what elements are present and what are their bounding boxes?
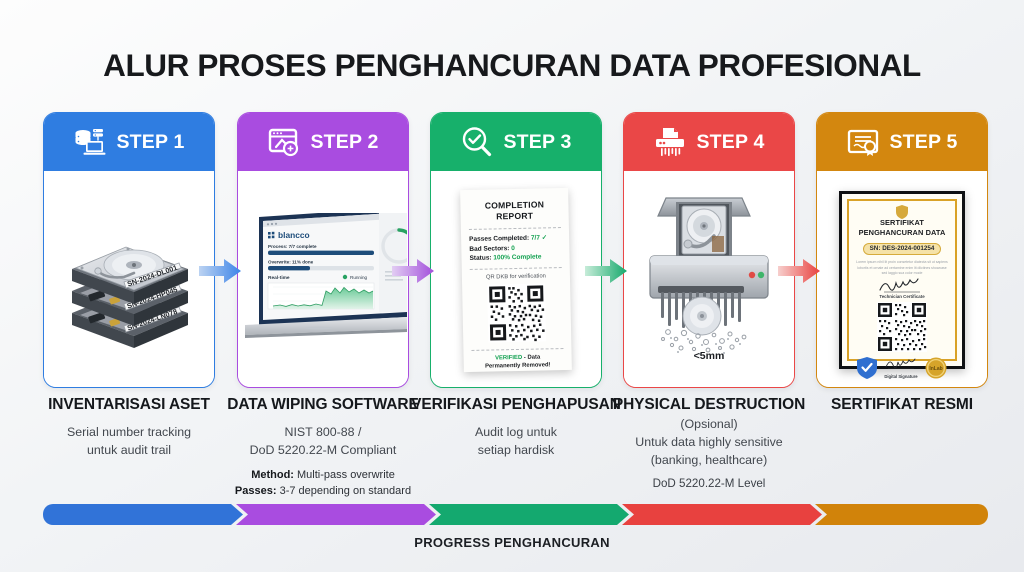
certificate-shield-icon: [896, 205, 908, 219]
arrow-1-2: [199, 258, 241, 284]
infographic-page: ALUR PROSES PENGHANCURAN DATA PROFESIONA…: [0, 0, 1024, 572]
certificate-qr-code: [877, 302, 927, 352]
step-4-illustration: <5mm: [624, 171, 794, 388]
receipt-qr-code: [487, 284, 546, 343]
arrow-3-4: [585, 258, 627, 284]
receipt-line-status: Status: 100% Complete: [469, 254, 561, 263]
database-laptop-icon: [73, 125, 107, 159]
window-cursor-icon: [267, 125, 301, 159]
step-1-badge: STEP 1: [116, 131, 184, 154]
receipt-divider-mid: [470, 268, 562, 271]
certificate-inner-frame: SERTIFIKAT PENGHANCURAN DATA SN: DES-202…: [847, 199, 957, 361]
gold-seal-icon: InLab: [925, 357, 947, 379]
magnifier-check-icon: [460, 125, 494, 159]
wiping-app-name: blancco: [278, 230, 310, 240]
progress-label: PROGRESS PENGHANCURAN: [0, 535, 1024, 550]
caption-4-optional: (Opsional): [594, 416, 824, 432]
receipt-verified-text: VERIFIED - Data Permanently Removed!: [472, 354, 564, 372]
step-2-header: STEP 2: [238, 113, 408, 171]
step-3-illustration: COMPLETION REPORT Passes Completed: 7/7 …: [431, 171, 601, 388]
step-4-header: STEP 4: [624, 113, 794, 171]
handwritten-signature-icon: [878, 278, 926, 293]
receipt-line-bad-sectors: Bad Sectors: 0: [469, 244, 561, 253]
hdd-stack: SN-2024-LN078 SN-2024-HP045: [54, 205, 204, 355]
steps-row: STEP 1: [0, 112, 1024, 388]
step-card-1[interactable]: STEP 1: [43, 112, 215, 388]
step-2-illustration: blancco Process: 7/7 complete Overwrite:…: [238, 171, 408, 388]
step-5-badge: STEP 5: [889, 131, 957, 154]
step-5-illustration: SERTIFIKAT PENGHANCURAN DATA SN: DES-202…: [817, 171, 987, 388]
receipt-title: COMPLETION REPORT: [468, 199, 560, 222]
certificate-icon: [846, 125, 880, 159]
caption-5-title: SERTIFIKAT RESMI: [787, 396, 1017, 415]
caption-2-method-row: Method: Multi-pass overwrite: [208, 468, 438, 484]
progress-segment-3: [429, 504, 629, 525]
arrow-4-5: [778, 258, 820, 284]
certificate-serial-badge: SN: DES-2024-001254: [863, 243, 942, 255]
digital-signature-icon: [884, 357, 918, 369]
step-3-badge: STEP 3: [503, 131, 571, 154]
certificate-blurb: Lorem ipsum nihil lit proin consetetur d…: [855, 260, 949, 276]
step-4-badge: STEP 4: [696, 131, 764, 154]
step-5-header: STEP 5: [817, 113, 987, 171]
caption-2-extra: Method: Multi-pass overwrite Passes: 3-7…: [208, 468, 438, 500]
step-1-header: STEP 1: [44, 113, 214, 171]
caption-4-note: DoD 5220.22-M Level: [594, 477, 824, 490]
progress-bar: [43, 504, 988, 525]
step-card-4[interactable]: STEP 4: [623, 112, 795, 388]
caption-4-sub: Untuk data highly sensitive (banking, he…: [594, 434, 824, 469]
verified-shield-icon: [857, 357, 877, 379]
certificate-title: SERTIFIKAT PENGHANCURAN DATA: [855, 218, 949, 237]
step-card-5[interactable]: STEP 5 SERTIFIKAT PENGHANCURAN DATA SN: …: [816, 112, 988, 388]
step-1-illustration: SN-2024-LN078 SN-2024-HP045: [44, 171, 214, 388]
progress-segment-4: [622, 504, 822, 525]
progress-row-1-label: Process: 7/7 complete: [268, 244, 317, 249]
laptop-with-wiping-software: blancco Process: 7/7 complete Overwrite:…: [239, 213, 407, 348]
progress-segment-2: [236, 504, 436, 525]
arrow-2-3: [392, 258, 434, 284]
seal-text: InLab: [929, 366, 942, 372]
receipt-divider-bottom: [471, 348, 563, 351]
receipt-divider-top: [469, 228, 561, 231]
completion-report-receipt: COMPLETION REPORT Passes Completed: 7/7 …: [460, 188, 572, 372]
shredder-illustration: <5mm: [636, 192, 782, 368]
certificate-signature-name: Technician Certificate: [855, 294, 949, 299]
step-card-3[interactable]: STEP 3 COMPLETION REPORT Passes Complete…: [430, 112, 602, 388]
running-status: Running: [350, 275, 368, 280]
step-3-header: STEP 3: [431, 113, 601, 171]
caption-step-5: SERTIFIKAT RESMI: [787, 396, 1017, 415]
progress-segment-1: [43, 504, 243, 525]
receipt-line-passes: Passes Completed: 7/7 ✓: [469, 234, 561, 244]
fragment-size-label: <5mm: [636, 350, 782, 362]
progress-segment-5: [815, 504, 988, 525]
captions-row: INVENTARISASI ASET Serial number trackin…: [0, 396, 1024, 506]
step-2-badge: STEP 2: [310, 131, 378, 154]
realtime-label: Real-time: [268, 275, 290, 281]
page-title: ALUR PROSES PENGHANCURAN DATA PROFESIONA…: [0, 47, 1024, 84]
digital-signature-label: Digital Signature: [884, 374, 918, 379]
step-card-2[interactable]: STEP 2: [237, 112, 409, 388]
shredder-icon: [653, 125, 687, 159]
progress-row-2-label: Overwrite: 11% done: [268, 259, 314, 264]
receipt-qr-caption: QR DKB for verification: [470, 274, 562, 282]
destruction-certificate: SERTIFIKAT PENGHANCURAN DATA SN: DES-202…: [839, 191, 965, 369]
caption-2-passes-row: Passes: 3-7 depending on standard: [208, 484, 438, 500]
